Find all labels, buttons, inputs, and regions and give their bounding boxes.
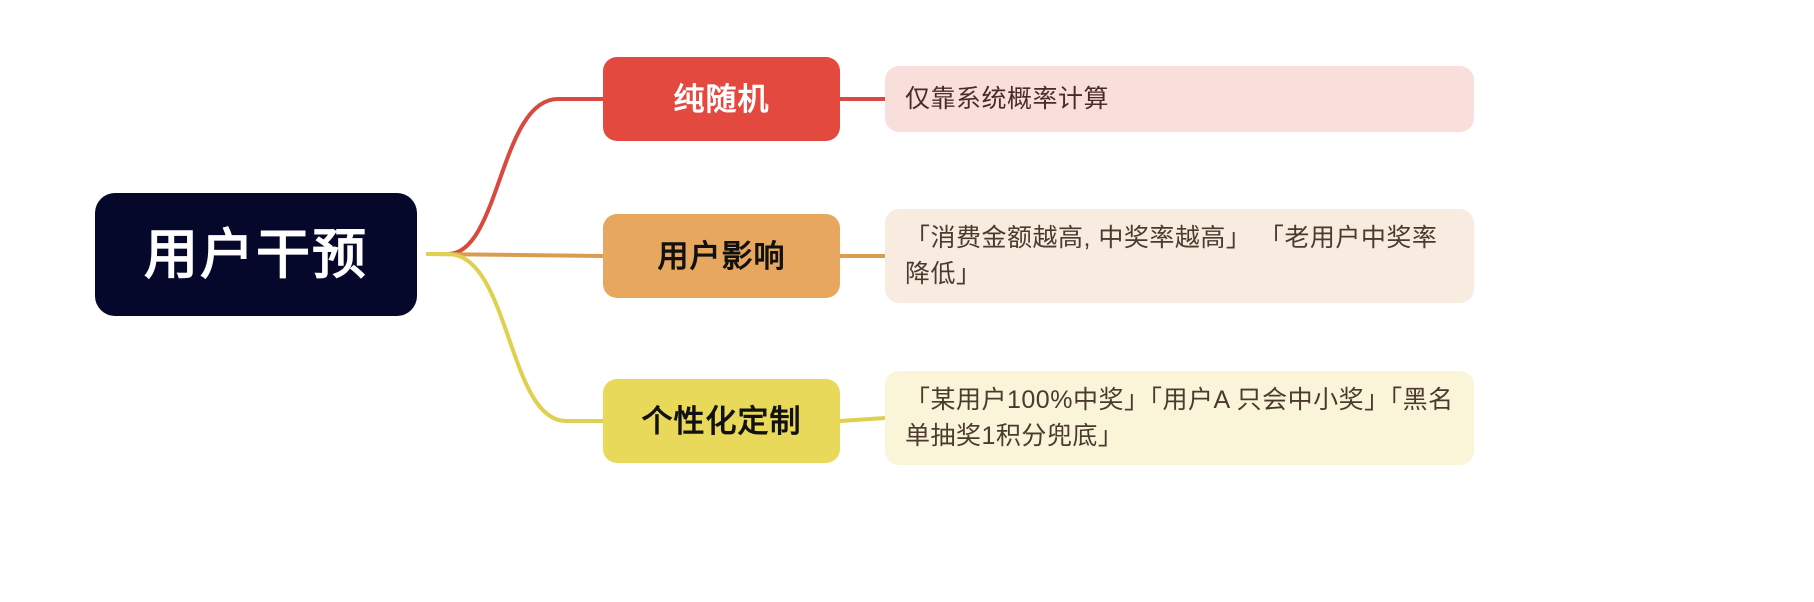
mindmap-branch-personalized-custom[interactable]: 个性化定制 [603, 379, 840, 463]
mindmap-branch-label: 用户影响 [658, 241, 786, 272]
mindmap-canvas: 用户干预 纯随机 仅靠系统概率计算 用户影响 「消费金额越高, 中奖率越高」 「… [0, 0, 1814, 602]
mindmap-branch-pure-random[interactable]: 纯随机 [603, 57, 840, 141]
mindmap-branch-user-influence[interactable]: 用户影响 [603, 214, 840, 298]
mindmap-detail-personalized-custom[interactable]: 「某用户100%中奖」「用户A 只会中小奖」「黑名单抽奖1积分兜底」 [885, 371, 1474, 465]
mindmap-root-node[interactable]: 用户干预 [95, 193, 417, 316]
mindmap-branch-label: 纯随机 [674, 84, 770, 115]
mindmap-detail-text: 仅靠系统概率计算 [905, 81, 1109, 117]
edge-root-to-personalized-custom [428, 254, 603, 421]
edge-root-to-pure-random [428, 99, 603, 254]
edge-root-to-user-influence [428, 254, 603, 256]
mindmap-detail-pure-random[interactable]: 仅靠系统概率计算 [885, 66, 1474, 132]
mindmap-detail-text: 「消费金额越高, 中奖率越高」 「老用户中奖率降低」 [905, 220, 1454, 293]
edge-personalized-custom-to-detail [840, 418, 885, 421]
mindmap-branch-label: 个性化定制 [642, 406, 802, 437]
mindmap-root-label: 用户干预 [144, 228, 368, 282]
mindmap-detail-text: 「某用户100%中奖」「用户A 只会中小奖」「黑名单抽奖1积分兜底」 [905, 382, 1454, 455]
mindmap-detail-user-influence[interactable]: 「消费金额越高, 中奖率越高」 「老用户中奖率降低」 [885, 209, 1474, 303]
